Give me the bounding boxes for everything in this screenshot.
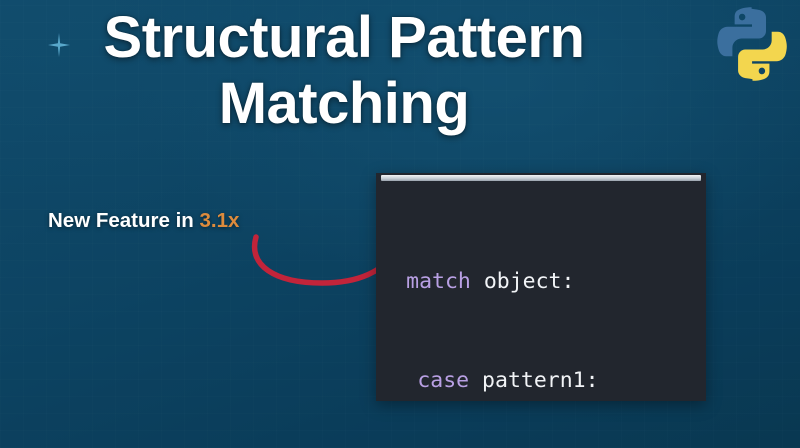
code-identifier: pattern1: bbox=[469, 368, 598, 393]
feature-caption: New Feature in 3.1x bbox=[48, 209, 239, 233]
code-keyword: case bbox=[417, 368, 469, 393]
python-logo bbox=[712, 4, 792, 84]
title-line-2: Matching bbox=[0, 74, 688, 134]
title-line-1: Structural Pattern bbox=[0, 8, 688, 68]
code-content: match object: case pattern1: # do someth… bbox=[376, 189, 706, 448]
slide-canvas: Structural Pattern Matching New Feature … bbox=[0, 0, 800, 448]
code-keyword: match bbox=[406, 269, 471, 294]
code-identifier: object: bbox=[471, 269, 575, 294]
page-title: Structural Pattern Matching bbox=[0, 8, 688, 133]
code-line: match object: bbox=[404, 265, 700, 298]
code-panel-titlebar bbox=[381, 175, 701, 181]
code-snippet-panel: match object: case pattern1: # do someth… bbox=[376, 173, 706, 401]
caption-prefix: New Feature in bbox=[48, 209, 200, 232]
code-line: case pattern1: bbox=[404, 364, 700, 397]
